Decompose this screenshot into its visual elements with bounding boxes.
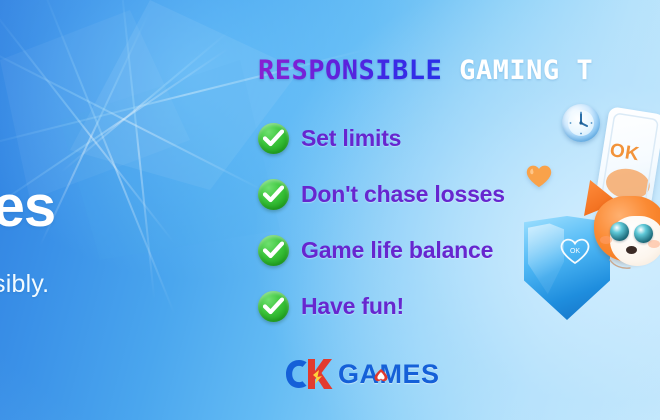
banner-canvas: mes sponsibly. RESPONSIBLE GAMING T Set … xyxy=(0,0,660,420)
left-tagline-partial: sponsibly. xyxy=(0,272,49,297)
page-title-highlight: RESPONSIBLE xyxy=(258,55,442,86)
list-item: Game life balance xyxy=(258,232,505,268)
svg-text:OK: OK xyxy=(570,248,580,255)
mascot-scene: OK OK xyxy=(518,96,660,346)
responsible-gaming-checklist: Set limits Don't chase losses Game life … xyxy=(258,120,505,324)
list-item-label: Don't chase losses xyxy=(301,183,505,206)
brand-logo-word: GAMES xyxy=(338,361,440,388)
list-item: Don't chase losses xyxy=(258,176,505,212)
list-item: Set limits xyxy=(258,120,505,156)
spade-flame-icon xyxy=(373,368,389,384)
list-item-label: Game life balance xyxy=(301,239,493,262)
clock-icon xyxy=(562,104,600,142)
heart-icon xyxy=(526,164,552,188)
list-item-label: Have fun! xyxy=(301,295,404,318)
fox-mascot-icon xyxy=(580,174,660,292)
list-item-label: Set limits xyxy=(301,127,401,150)
check-circle-icon xyxy=(258,291,289,322)
check-circle-icon xyxy=(258,179,289,210)
okgames-mark-icon xyxy=(282,357,336,391)
list-item: Have fun! xyxy=(258,288,505,324)
page-title-rest: GAMING T xyxy=(459,55,593,86)
check-circle-icon xyxy=(258,235,289,266)
brand-logo[interactable]: GAMES xyxy=(282,357,440,391)
page-title: RESPONSIBLE GAMING T xyxy=(258,55,593,86)
left-wordmark-partial: mes xyxy=(0,178,55,236)
check-circle-icon xyxy=(258,123,289,154)
